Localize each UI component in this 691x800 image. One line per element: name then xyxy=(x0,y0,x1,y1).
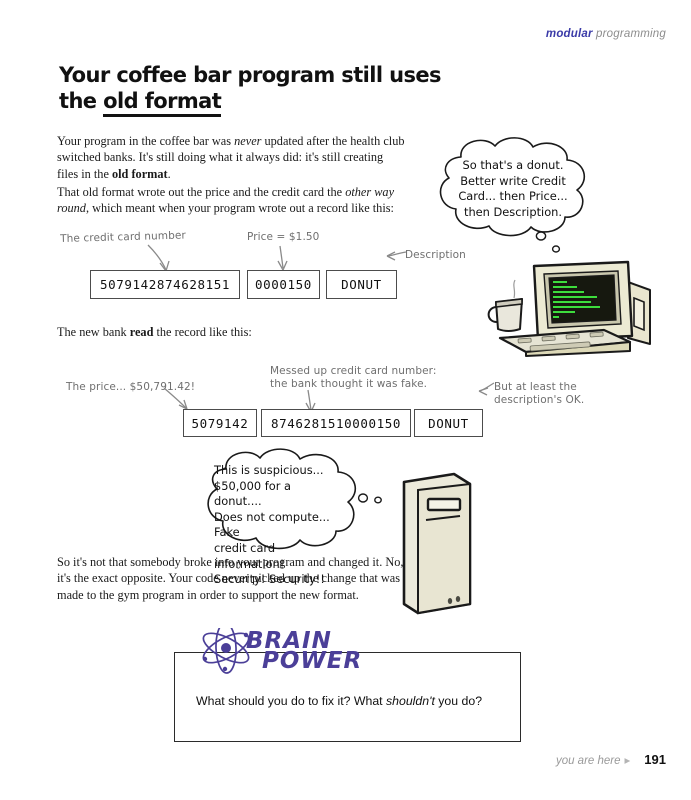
atom-icon xyxy=(199,628,253,673)
paragraph-intro: Your program in the coffee bar was never… xyxy=(57,133,407,182)
desktop-computer-illustration xyxy=(482,252,672,357)
brain-power-question: What should you do to fix it? What shoul… xyxy=(196,694,516,708)
arrow-price xyxy=(272,245,312,273)
paragraph-old-format: That old format wrote out the price and … xyxy=(57,184,409,217)
annotation-credit-card-number: The credit card number xyxy=(60,229,186,246)
p1-part-c: . xyxy=(168,167,171,181)
p1-part-a: Your program in the coffee bar was xyxy=(57,134,234,148)
annotation-price: Price = $1.50 xyxy=(247,231,319,244)
p3-part-b: the record like this: xyxy=(153,325,251,339)
record-old-field-credit-card: 5079142874628151 xyxy=(90,270,240,299)
page-number: 191 xyxy=(644,752,666,767)
page-title-line1: Your coffee bar program still uses xyxy=(59,63,441,87)
annotation-description-ok: But at least the description's OK. xyxy=(494,381,584,407)
bubble-bottom-line-1: This is suspicious... xyxy=(214,463,324,477)
thought-bubble-bank-security: This is suspicious... $50,000 for a donu… xyxy=(196,443,396,558)
thought-bubble-bottom-text: This is suspicious... $50,000 for a donu… xyxy=(214,463,342,588)
record-old-field-price: 0000150 xyxy=(247,270,320,299)
annotation-desc-ok-line1: But at least the xyxy=(494,381,577,393)
running-head-bold: modular xyxy=(546,28,593,40)
annotation-messed-line1: Messed up credit card number: xyxy=(270,365,437,377)
p1-emphasis: never xyxy=(234,134,261,148)
p2-part-b: , which meant when your program wrote ou… xyxy=(86,201,394,215)
bubble-bottom-line-3: Does not compute... Fake xyxy=(214,510,330,540)
record-new-field-credit-card: 8746281510000150 xyxy=(261,409,411,437)
brain-power-word-power: POWER xyxy=(262,648,362,674)
thought-bubble-coffee-program: So that's a donut. Better write Credit C… xyxy=(423,133,603,258)
bubble-top-line-2: Better write Credit xyxy=(460,174,566,188)
p3-bold: read xyxy=(130,325,154,339)
running-head: modular programming xyxy=(546,28,666,40)
annotation-new-price: The price... $50,791.42! xyxy=(66,381,195,394)
server-tower-illustration xyxy=(392,468,487,618)
footer-label: you are here xyxy=(556,755,621,767)
bubble-bottom-line-2: $50,000 for a donut.... xyxy=(214,479,291,509)
book-page: modular programming Your coffee bar prog… xyxy=(0,0,691,800)
p3-part-a: The new bank xyxy=(57,325,130,339)
p2-part-a: That old format wrote out the price and … xyxy=(57,185,345,199)
annotation-messed-line2: the bank thought it was fake. xyxy=(270,378,427,390)
thought-bubble-top-text: So that's a donut. Better write Credit C… xyxy=(445,158,581,220)
p1-bold: old format xyxy=(112,167,168,181)
annotation-desc-ok-line2: description's OK. xyxy=(494,394,584,406)
bp-question-a: What should you do to fix it? What xyxy=(196,694,386,708)
page-title-underlined: old format xyxy=(103,89,221,117)
record-new-field-price: 5079142 xyxy=(183,409,257,437)
bubble-top-line-4: then Description. xyxy=(464,205,562,219)
paragraph-new-bank-read: The new bank read the record like this: xyxy=(57,324,409,340)
bubble-top-line-1: So that's a donut. xyxy=(463,158,564,172)
bubble-bottom-line-5: Security! Security!! xyxy=(214,572,325,586)
bp-question-emphasis: shouldn't xyxy=(386,694,435,708)
annotation-messed-credit-card: Messed up credit card number: the bank t… xyxy=(270,365,437,391)
footer: you are here▸191 xyxy=(556,752,666,767)
bubble-top-line-3: Card... then Price... xyxy=(458,189,567,203)
page-title-line2-prefix: the xyxy=(59,89,103,113)
record-new-field-description: DONUT xyxy=(414,409,483,437)
record-old-field-description: DONUT xyxy=(326,270,397,299)
page-title: Your coffee bar program still uses the o… xyxy=(59,62,479,114)
footer-arrow-icon: ▸ xyxy=(625,755,631,767)
bp-question-b: you do? xyxy=(435,694,482,708)
bubble-bottom-line-4: credit card information! xyxy=(214,541,284,571)
running-head-rest: programming xyxy=(593,28,666,40)
